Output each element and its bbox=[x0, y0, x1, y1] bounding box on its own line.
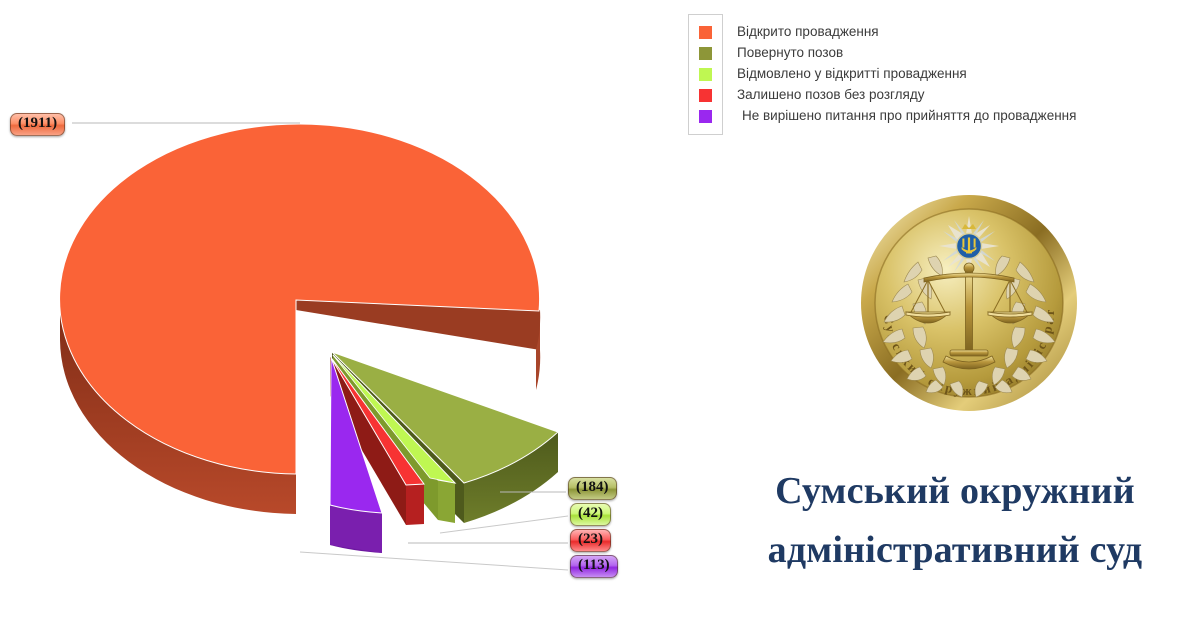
legend-swatch-cell bbox=[699, 85, 712, 106]
legend-item-label-claim-left-without-consideration: Залишено позов без розгляду bbox=[737, 84, 1076, 105]
pie-value-label-open-proceedings: (1911) bbox=[10, 113, 65, 136]
pie-value-label-claim-left-without-consideration: (23) bbox=[570, 529, 611, 552]
court-emblem: Сумський окружний адміністративний суд bbox=[858, 192, 1080, 414]
legend-label-column: Відкрито провадження Повернуто позов Від… bbox=[737, 14, 1076, 126]
court-title-line-1: Сумський окружний bbox=[735, 462, 1175, 521]
pie-slice-outer-wall-claim-left bbox=[406, 484, 424, 525]
legend-item-label-opening-refused: Відмовлено у відкритті провадження bbox=[737, 63, 1076, 84]
legend-swatch-claim-returned bbox=[699, 47, 712, 60]
legend-item-label-acceptance-undecided: Не вирішено питання про прийняття до про… bbox=[737, 105, 1076, 126]
court-title-line-2: адміністративний суд bbox=[735, 521, 1175, 580]
legend-swatch-cell bbox=[699, 64, 712, 85]
court-title: Сумський окружний адміністративний суд bbox=[735, 462, 1175, 580]
legend-swatch-cell bbox=[699, 106, 712, 127]
legend-swatch-column bbox=[688, 14, 723, 135]
legend-swatch-claim-left-without-consideration bbox=[699, 89, 712, 102]
pie-value-label-claim-returned: (184) bbox=[568, 477, 617, 500]
legend-swatch-cell bbox=[699, 43, 712, 64]
legend-swatch-opening-refused bbox=[699, 68, 712, 81]
legend-item-label-open-proceedings: Відкрито провадження bbox=[737, 21, 1076, 42]
pie-value-label-opening-refused: (42) bbox=[570, 503, 611, 526]
legend-swatch-open-proceedings bbox=[699, 26, 712, 39]
chart-legend: Відкрито провадження Повернуто позов Від… bbox=[688, 14, 1076, 135]
legend-item-label-claim-returned: Повернуто позов bbox=[737, 42, 1076, 63]
leader-line-acceptance-undecided bbox=[300, 552, 568, 570]
legend-swatch-acceptance-undecided bbox=[699, 110, 712, 123]
leader-line-opening-refused bbox=[440, 516, 568, 533]
legend-swatch-cell bbox=[699, 22, 712, 43]
pie-slice-outer-wall-opening-refused bbox=[438, 480, 455, 523]
pie-value-label-acceptance-undecided: (113) bbox=[570, 555, 618, 578]
